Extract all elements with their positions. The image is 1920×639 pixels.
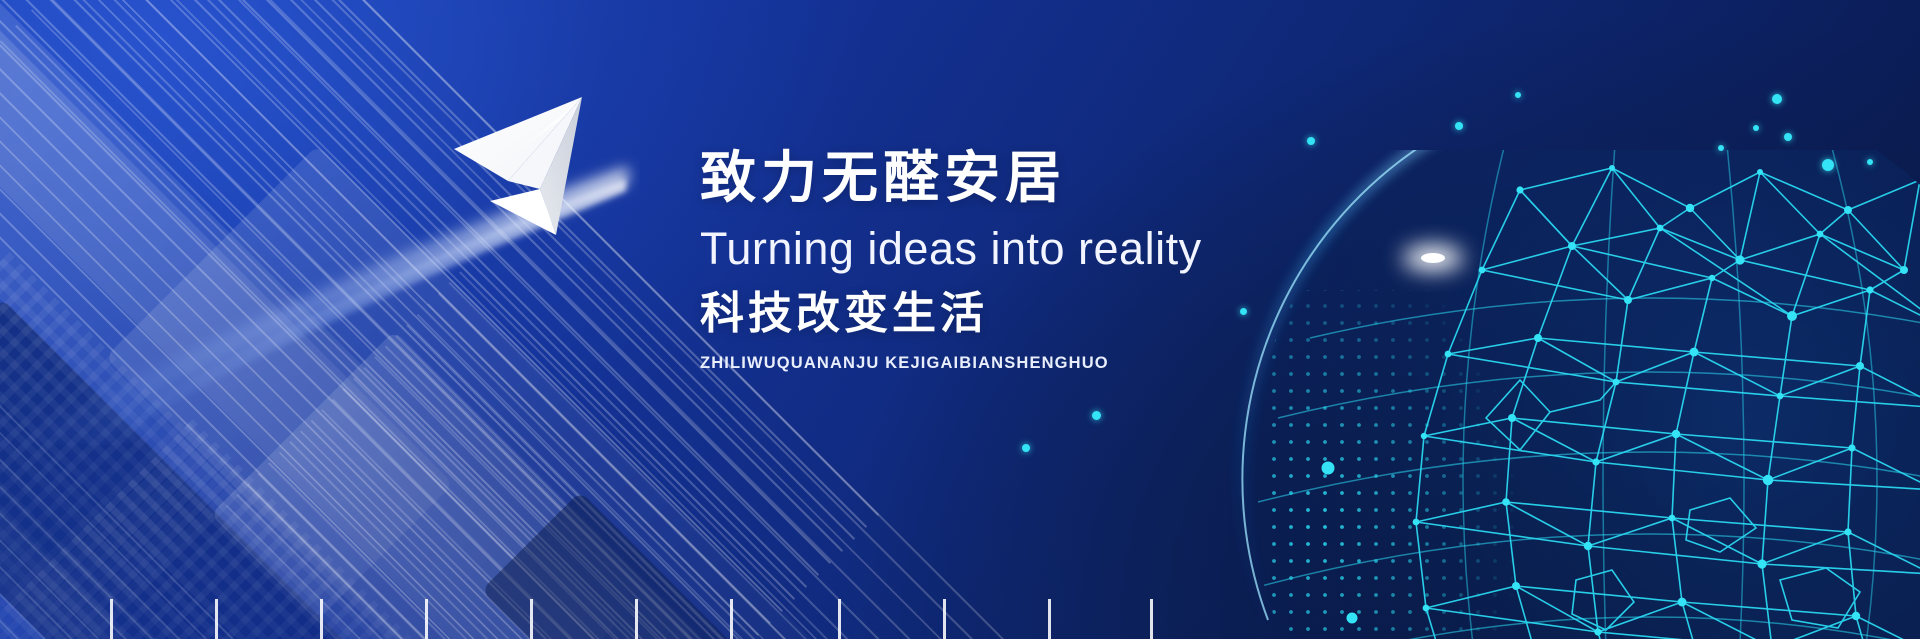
floating-dot (1022, 444, 1030, 452)
tick-mark (425, 599, 428, 639)
floating-dot (1822, 159, 1834, 171)
paper-plane-group (430, 85, 670, 275)
tick-mark (215, 599, 218, 639)
tick-mark (943, 599, 946, 639)
floating-dot (1515, 92, 1521, 98)
tick-mark (530, 599, 533, 639)
floating-dot (1718, 145, 1724, 151)
floating-dot (1867, 159, 1873, 165)
tick-mark (635, 599, 638, 639)
tick-mark (1150, 599, 1153, 639)
tick-mark (320, 599, 323, 639)
bottom-tick-marks (0, 593, 1920, 639)
tick-mark (730, 599, 733, 639)
tick-mark (838, 599, 841, 639)
floating-dot (1772, 94, 1782, 104)
decor-lines (0, 54, 451, 639)
floating-dot (1307, 137, 1315, 145)
halftone-pattern (0, 252, 243, 639)
decor-slab (0, 147, 218, 639)
floating-dot (1240, 308, 1247, 315)
decor-slab-dark (0, 298, 497, 639)
tick-mark (1048, 599, 1051, 639)
hero-banner: 致力无醛安居 Turning ideas into reality 科技改变生活… (0, 0, 1920, 639)
tick-mark (110, 599, 113, 639)
floating-dot (1455, 122, 1463, 130)
wireframe-globe (1220, 150, 1920, 639)
floating-dot (1784, 133, 1792, 141)
floating-dot (1092, 411, 1101, 420)
decor-slab (0, 0, 453, 618)
paper-plane-icon (430, 85, 670, 275)
floating-dot (1753, 125, 1759, 131)
